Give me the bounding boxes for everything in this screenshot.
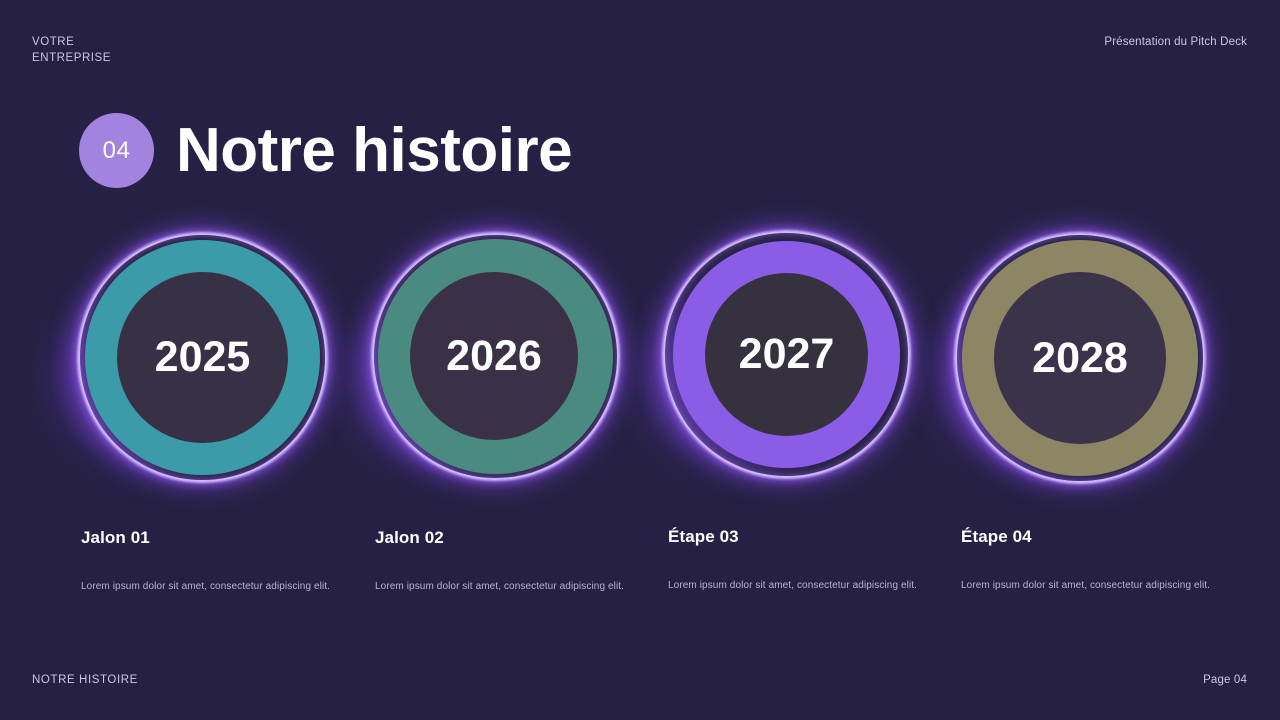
timeline-node-3-core: 2027 xyxy=(705,273,868,436)
timeline-caption-1-title: Jalon 01 xyxy=(81,528,361,548)
timeline-caption-2: Jalon 02 Lorem ipsum dolor sit amet, con… xyxy=(375,528,655,592)
timeline-caption-3-body: Lorem ipsum dolor sit amet, consectetur … xyxy=(668,580,948,591)
timeline-caption-1: Jalon 01 Lorem ipsum dolor sit amet, con… xyxy=(81,528,361,592)
timeline-caption-4: Étape 04 Lorem ipsum dolor sit amet, con… xyxy=(961,527,1241,591)
timeline-node-4-core: 2028 xyxy=(994,272,1166,444)
timeline-node-1-core: 2025 xyxy=(117,272,288,443)
timeline-node-3-year: 2027 xyxy=(739,333,835,376)
timeline-caption-4-body: Lorem ipsum dolor sit amet, consectetur … xyxy=(961,580,1241,591)
timeline-node-4-year: 2028 xyxy=(1032,337,1128,380)
timeline-caption-3: Étape 03 Lorem ipsum dolor sit amet, con… xyxy=(668,527,948,591)
timeline-caption-2-body: Lorem ipsum dolor sit amet, consectetur … xyxy=(375,581,655,592)
timeline-node-2-core: 2026 xyxy=(410,272,578,440)
timeline-caption-1-body: Lorem ipsum dolor sit amet, consectetur … xyxy=(81,581,361,592)
footer-section-label: NOTRE HISTOIRE xyxy=(32,674,138,686)
timeline-circles: 2025 2026 2027 2028 xyxy=(0,0,1280,720)
timeline-caption-2-title: Jalon 02 xyxy=(375,528,655,548)
timeline-node-2-year: 2026 xyxy=(446,335,542,378)
timeline-caption-3-title: Étape 03 xyxy=(668,527,948,547)
footer-page-number: Page 04 xyxy=(1203,674,1247,686)
timeline-node-1-year: 2025 xyxy=(155,336,251,379)
timeline-caption-4-title: Étape 04 xyxy=(961,527,1241,547)
